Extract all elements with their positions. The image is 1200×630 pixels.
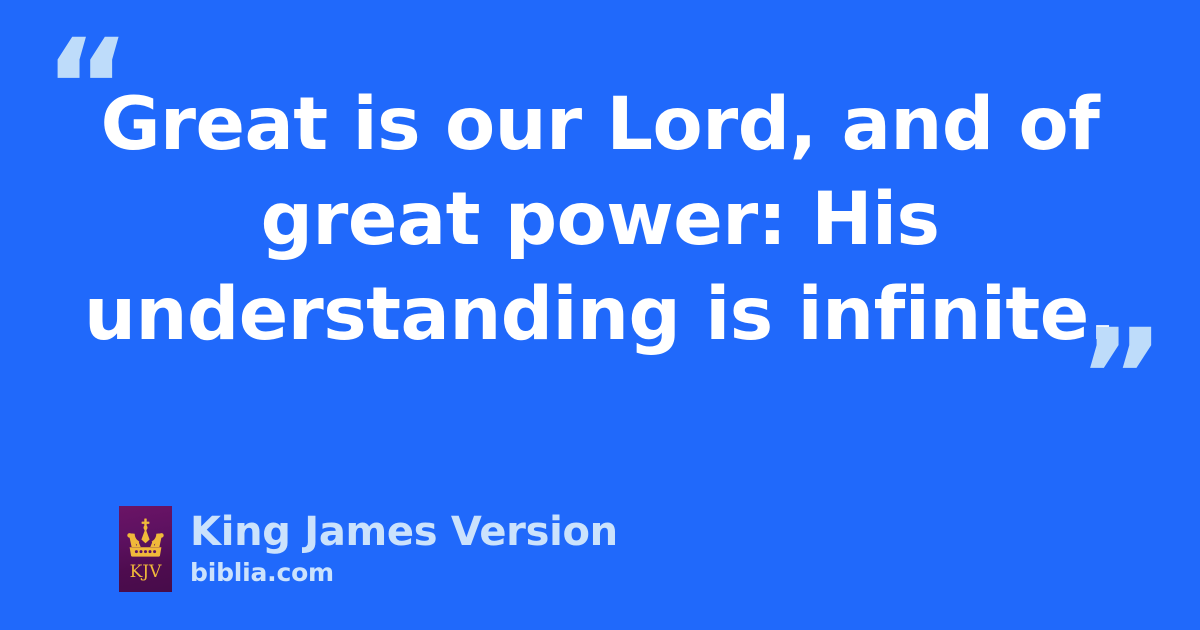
crown-icon: KJV <box>119 506 172 592</box>
attribution-text: King James Version biblia.com <box>190 511 618 587</box>
kjv-logo: KJV <box>119 506 172 592</box>
closing-quotation-mark-icon: ” <box>1078 312 1165 444</box>
bible-version-name: King James Version <box>190 511 618 553</box>
quote-text: Great is our Lord, and of great power: H… <box>60 78 1140 363</box>
bible-verse-card: “ Great is our Lord, and of great power:… <box>0 0 1200 630</box>
site-name: biblia.com <box>190 559 618 587</box>
attribution: KJV King James Version biblia.com <box>119 506 618 592</box>
kjv-abbreviation: KJV <box>130 562 163 582</box>
